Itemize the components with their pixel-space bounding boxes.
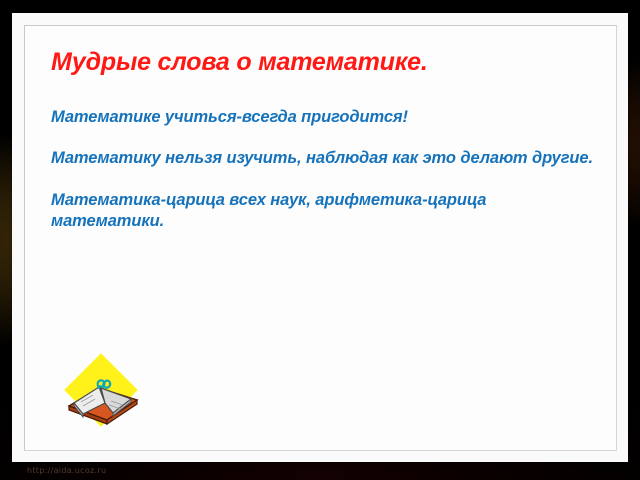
quote-list: Математике учиться-всегда пригодится! Ма…	[51, 107, 598, 233]
page-title: Мудрые слова о математике.	[51, 48, 598, 77]
card-inner-border: Мудрые слова о математике. Математике уч…	[24, 25, 617, 451]
card-content: Мудрые слова о математике. Математике уч…	[51, 48, 598, 434]
quote-item-2: Математику нельзя изучить, наблюдая как …	[51, 148, 598, 169]
content-card: Мудрые слова о математике. Математике уч…	[12, 13, 628, 462]
quote-item-1: Математике учиться-всегда пригодится!	[51, 107, 598, 128]
open-book-glyph	[59, 358, 145, 428]
quote-item-3: Математика-царица всех наук, арифметика-…	[51, 190, 598, 233]
watermark-url: http://aida.ucoz.ru	[27, 466, 106, 475]
slide-root: Мудрые слова о математике. Математике уч…	[0, 0, 640, 480]
open-book-icon	[59, 358, 145, 428]
